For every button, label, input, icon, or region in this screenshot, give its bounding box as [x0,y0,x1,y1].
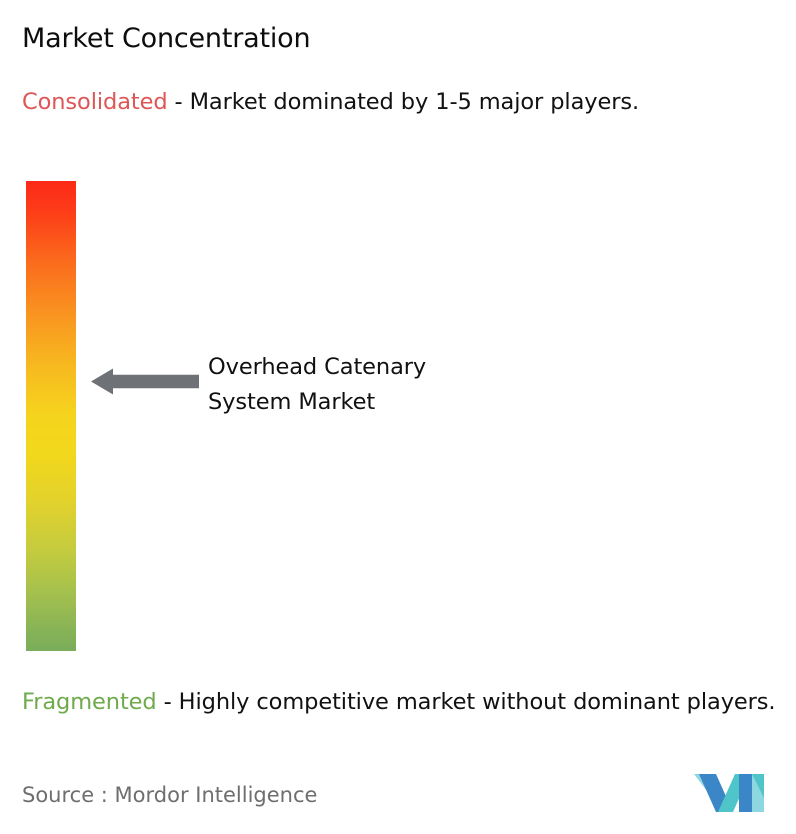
legend-description-consolidated: - Market dominated by 1-5 major players. [175,89,640,115]
legend-term-consolidated: Consolidated [22,89,168,115]
concentration-gradient-bar [26,181,76,651]
market-position-label-line2: System Market [208,385,538,420]
legend-description-fragmented: - Highly competitive market without domi… [164,689,776,715]
mordor-intelligence-logo [694,770,772,816]
left-arrow-icon [91,369,199,395]
source-note: Source : Mordor Intelligence [22,781,317,809]
logo-shape-i-dark [739,774,752,812]
page-title: Market Concentration [22,22,762,56]
legend-fragmented: Fragmented- Highly competitive market wi… [22,686,792,718]
market-position-arrow [91,367,199,396]
market-concentration-infographic: Market Concentration Consolidated- Marke… [0,0,796,834]
market-position-label: Overhead Catenary System Market [208,350,538,420]
legend-term-fragmented: Fragmented [22,689,157,715]
legend-consolidated: Consolidated- Market dominated by 1-5 ma… [22,86,782,118]
market-position-label-line1: Overhead Catenary [208,350,538,385]
